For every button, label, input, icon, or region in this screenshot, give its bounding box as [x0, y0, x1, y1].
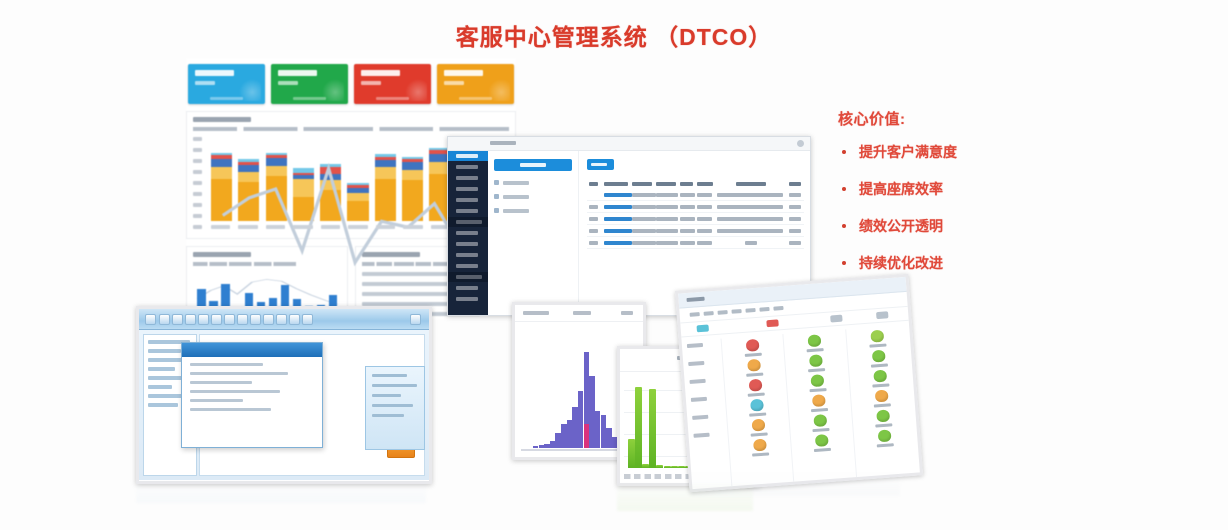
core-value-label: 持续优化改进 [859, 253, 943, 273]
kpi-value [361, 81, 381, 85]
sidebar-item-7[interactable] [448, 228, 488, 238]
refresh-icon[interactable] [224, 314, 235, 325]
agent-label [752, 452, 769, 456]
bullet-icon [842, 261, 846, 265]
agent-label [813, 428, 830, 432]
core-value-item: 提高座席效率 [842, 179, 1068, 199]
agent-status-node[interactable] [871, 369, 889, 387]
table-cell [630, 201, 654, 213]
sidebar-item-label [456, 154, 478, 158]
cell-value [697, 241, 712, 245]
legacy-titlebar [139, 309, 429, 330]
cell-value [680, 241, 695, 245]
bullet-icon [842, 224, 846, 228]
agent-label [874, 403, 891, 407]
table-cell [602, 201, 630, 213]
cell-value [589, 241, 598, 245]
bar-segment [238, 182, 259, 221]
status-dot-icon [753, 439, 767, 452]
bar[interactable] [678, 466, 685, 468]
legend-busy [766, 319, 778, 327]
cell-value [697, 205, 712, 209]
kpi-card-green[interactable] [271, 64, 348, 104]
table-cell [602, 237, 630, 249]
cell-value [680, 205, 695, 209]
sidebar-item-label [456, 297, 478, 301]
table-cell [587, 213, 602, 225]
agent-status-node[interactable] [875, 429, 893, 447]
table-cell [695, 189, 715, 201]
bullet-icon [842, 150, 846, 154]
bullet-icon [842, 187, 846, 191]
table-cell [654, 225, 678, 237]
table-cell [787, 225, 804, 237]
table-cell [715, 213, 787, 225]
sidebar-item-5[interactable] [448, 206, 488, 216]
cell-value[interactable] [604, 193, 632, 197]
agent-label [751, 432, 768, 436]
panel-title [362, 252, 420, 257]
cell-value [717, 229, 783, 233]
kpi-value [278, 81, 298, 85]
core-value-label: 提高座席效率 [859, 179, 943, 199]
table-cell [678, 213, 695, 225]
table-cell [630, 213, 654, 225]
sidebar-item-label [456, 220, 482, 224]
agent-status-node[interactable] [807, 354, 825, 372]
bar-segment [320, 167, 341, 174]
kpi-glyph-icon [488, 79, 510, 101]
stacked-bar[interactable] [211, 153, 232, 221]
y-axis-ticks [193, 137, 209, 221]
table-cell [695, 237, 715, 249]
stacked-bar[interactable] [293, 168, 314, 221]
app-icon [145, 314, 156, 325]
export-icon[interactable] [250, 314, 261, 325]
agent-label [749, 412, 766, 416]
status-column-2 [846, 325, 918, 477]
kpi-title [195, 70, 234, 76]
sidebar-item-label [456, 253, 478, 257]
table-cell [602, 189, 630, 201]
tree-row[interactable] [494, 194, 572, 199]
stacked-bar[interactable] [238, 159, 259, 221]
bar[interactable] [671, 466, 678, 468]
status-column-1 [784, 329, 857, 481]
bar-segment [238, 165, 259, 172]
core-values-list: 提升客户满意度提高座席效率绩效公开透明持续优化改进 [838, 142, 1068, 273]
settings-icon[interactable] [302, 314, 313, 325]
agent-status-grid[interactable] [681, 321, 920, 489]
stacked-bar[interactable] [266, 153, 287, 221]
cell-value [656, 241, 677, 245]
table-cell [715, 201, 787, 213]
expand-icon [494, 180, 499, 185]
table-cell [787, 237, 804, 249]
bar-segment [375, 179, 396, 221]
agent-label [807, 348, 824, 352]
chart-legend [193, 127, 509, 131]
cell-value [717, 217, 783, 221]
bar[interactable] [642, 464, 649, 468]
status-dot-icon [877, 429, 891, 442]
slide-canvas: 客服中心管理系统 （DTCO） [0, 0, 1228, 530]
cell-value [789, 205, 801, 209]
kpi-card-row [186, 58, 516, 104]
sidebar-item-10[interactable] [448, 261, 488, 271]
table-cell [602, 225, 630, 237]
breadcrumb [490, 141, 516, 145]
agent-label [872, 383, 889, 387]
agent-label [811, 408, 828, 412]
table-cell [654, 213, 678, 225]
bar-segment [266, 166, 287, 177]
table-cell [630, 189, 654, 201]
core-value-item: 持续优化改进 [842, 253, 1068, 273]
chart-title [193, 117, 251, 122]
cell-value [717, 193, 783, 197]
agent-status-node[interactable] [868, 330, 886, 348]
cell-value [789, 217, 801, 221]
sidebar-item-3[interactable] [448, 184, 488, 194]
agent-status-window[interactable] [675, 274, 923, 493]
panel-subtitle [362, 262, 453, 266]
legacy-modal-dialog[interactable] [181, 342, 323, 448]
cell-value [697, 217, 712, 221]
cell-value [632, 217, 656, 221]
status-dot-icon [870, 330, 884, 343]
status-dot-icon [750, 399, 764, 412]
sidebar-item-label [456, 231, 478, 235]
sidebar-item-label [456, 264, 478, 268]
search-icon[interactable] [211, 314, 222, 325]
table-cell [602, 213, 630, 225]
bar-segment [402, 170, 423, 181]
sidebar-item-8[interactable] [448, 239, 488, 249]
sidebar-item-label [456, 275, 482, 279]
kpi-value [444, 81, 464, 85]
agent-status-node[interactable] [806, 334, 824, 352]
table-row[interactable] [587, 189, 804, 201]
agent-status-node[interactable] [745, 359, 763, 377]
kpi-value [195, 81, 215, 85]
agent-label [810, 388, 827, 392]
status-dot-icon [752, 419, 766, 432]
status-dot-icon [747, 359, 761, 372]
close-icon[interactable] [410, 314, 421, 325]
core-value-label: 提升客户满意度 [859, 142, 957, 162]
legacy-client-window[interactable] [136, 306, 432, 484]
cell-value [589, 205, 598, 209]
agent-status-node[interactable] [751, 438, 769, 456]
cell-value [745, 241, 756, 245]
panel-title [193, 252, 251, 257]
cell-value [632, 193, 656, 197]
agent-label [875, 423, 892, 427]
agent-status-node[interactable] [747, 379, 765, 397]
window-topbar [448, 137, 810, 151]
chart-label [523, 311, 549, 315]
chart-legend [621, 311, 633, 315]
stacked-bar[interactable] [402, 157, 423, 221]
table-cell [654, 201, 678, 213]
bar-segment [211, 159, 232, 167]
bar-segment [266, 176, 287, 221]
agent-label [745, 353, 762, 357]
status-dot-icon [815, 434, 829, 447]
table-cell [654, 189, 678, 201]
table-cell [787, 213, 804, 225]
table-cell [678, 189, 695, 201]
sidebar-item-12[interactable] [448, 283, 488, 293]
stacked-bar[interactable] [375, 154, 396, 221]
cell-value [717, 205, 783, 209]
status-dot-icon [876, 409, 890, 422]
agent-status-node[interactable] [809, 374, 827, 392]
kpi-glyph-icon [405, 79, 427, 101]
filter-icon[interactable] [237, 314, 248, 325]
sidebar-item-1[interactable] [448, 162, 488, 172]
cell-value [656, 229, 677, 233]
legend-idle [876, 311, 888, 319]
table-row[interactable] [587, 213, 804, 225]
kpi-glyph-icon [239, 79, 261, 101]
bar[interactable] [656, 465, 663, 468]
cell-value [680, 217, 695, 221]
agent-status-node[interactable] [873, 389, 891, 407]
agent-label [814, 448, 831, 452]
status-dot-icon [873, 370, 887, 383]
admin-sidebar[interactable] [448, 151, 488, 316]
agent-label [746, 373, 763, 377]
bar-segment [375, 167, 396, 178]
bar-segment [402, 162, 423, 169]
sidebar-item-label [456, 209, 478, 213]
agent-status-node[interactable] [748, 399, 766, 417]
table-cell [587, 201, 602, 213]
cell-value [697, 229, 712, 233]
cell-value [789, 241, 801, 245]
core-values-panel: 核心价值: 提升客户满意度提高座席效率绩效公开透明持续优化改进 [838, 108, 1068, 290]
agent-status-node[interactable] [813, 434, 831, 452]
new-ticket-button[interactable] [587, 159, 614, 170]
kpi-card-red[interactable] [354, 64, 431, 104]
cell-value [789, 193, 801, 197]
status-dot-icon [809, 354, 823, 367]
cell-value[interactable] [604, 217, 632, 221]
kpi-title [444, 70, 483, 76]
core-values-heading: 核心价值: [838, 108, 1068, 129]
sidebar-item-4[interactable] [448, 195, 488, 205]
histogram-bar-highlight[interactable] [584, 424, 590, 448]
cell-value [632, 229, 656, 233]
table-cell [654, 237, 678, 249]
status-dot-icon [746, 339, 760, 352]
table-cell [695, 201, 715, 213]
agent-status-node[interactable] [810, 394, 828, 412]
expand-icon [494, 194, 499, 199]
bar-segment [402, 180, 423, 221]
kpi-glyph-icon [322, 79, 344, 101]
table-cell [695, 225, 715, 237]
agent-status-node[interactable] [874, 409, 892, 427]
bar-segment [266, 158, 287, 165]
kpi-title [278, 70, 317, 76]
kpi-card-blue[interactable] [188, 64, 265, 104]
status-dot-icon [872, 350, 886, 363]
agent-label [869, 344, 886, 348]
bar-segment [347, 201, 368, 221]
bar-segment [320, 180, 341, 190]
agent-label [877, 443, 894, 447]
help-icon[interactable] [289, 314, 300, 325]
status-dot-icon [749, 379, 763, 392]
avatar[interactable] [797, 140, 804, 147]
kpi-card-orange[interactable] [437, 64, 514, 104]
cell-value [632, 205, 656, 209]
agent-label [808, 368, 825, 372]
agent-label [748, 393, 765, 397]
cell-value[interactable] [604, 241, 632, 245]
cell-value [589, 217, 598, 221]
chart-title [573, 311, 591, 315]
agent-status-node[interactable] [750, 418, 768, 436]
sidebar-item-label [456, 242, 478, 246]
sidebar-item-11[interactable] [448, 272, 488, 282]
table-cell [678, 225, 695, 237]
table-cell [787, 189, 804, 201]
table-row[interactable] [587, 225, 804, 237]
sidebar-item-9[interactable] [448, 250, 488, 260]
status-dot-icon [814, 414, 828, 427]
ticket-table[interactable] [587, 178, 804, 249]
table-cell [787, 201, 804, 213]
status-dot-icon [811, 374, 825, 387]
table-header [587, 178, 804, 189]
page-title: 客服中心管理系统 （DTCO） [0, 18, 1228, 52]
bar-segment [211, 179, 232, 221]
sidebar-item-13[interactable] [448, 294, 488, 304]
core-value-label: 绩效公开透明 [859, 216, 943, 236]
dialog-titlebar [182, 343, 322, 357]
new-icon[interactable] [159, 314, 170, 325]
bar[interactable] [649, 389, 656, 468]
table-cell [678, 237, 695, 249]
status-dot-icon [812, 394, 826, 407]
table-cell [587, 225, 602, 237]
table-cell [715, 225, 787, 237]
cell-value [656, 193, 677, 197]
category-tree-panel[interactable] [488, 151, 579, 316]
agent-label [871, 363, 888, 367]
cell-value[interactable] [604, 205, 632, 209]
status-dot-icon [808, 334, 822, 347]
table-cell [715, 189, 787, 201]
agent-status-node[interactable] [744, 339, 762, 357]
bar-segment [347, 193, 368, 201]
status-column-0 [721, 334, 794, 486]
open-icon[interactable] [172, 314, 183, 325]
print-icon[interactable] [198, 314, 209, 325]
sidebar-item-2[interactable] [448, 173, 488, 183]
chart-icon[interactable] [263, 314, 274, 325]
cell-value [656, 205, 677, 209]
core-value-item: 绩效公开透明 [842, 216, 1068, 236]
agent-status-node[interactable] [870, 349, 888, 367]
save-icon[interactable] [185, 314, 196, 325]
table-row[interactable] [587, 237, 804, 249]
table-cell [715, 237, 787, 249]
bar-segment [211, 167, 232, 178]
table-cell [630, 225, 654, 237]
cell-value [680, 193, 695, 197]
kpi-title [361, 70, 400, 76]
agent-status-node[interactable] [812, 414, 830, 432]
sidebar-item-label [456, 176, 478, 180]
cell-value [589, 229, 598, 233]
sidebar-item-6[interactable] [448, 217, 488, 227]
bar[interactable] [635, 387, 642, 468]
table-cell [587, 237, 602, 249]
sidebar-item-label [456, 286, 478, 290]
panel-subtitle [193, 262, 296, 266]
sidebar-item-0[interactable] [448, 151, 488, 161]
bar-segment [293, 197, 314, 221]
stacked-bar[interactable] [347, 183, 368, 221]
cell-value [789, 229, 801, 233]
cell-value[interactable] [604, 229, 632, 233]
legend-total [830, 315, 842, 323]
bar-segment [238, 172, 259, 182]
histogram-header [515, 305, 643, 322]
cell-value [697, 193, 712, 197]
expand-icon [494, 208, 499, 213]
status-dot-icon [875, 390, 889, 403]
bar-segment [375, 160, 396, 167]
table-row[interactable] [587, 201, 804, 213]
table-cell [587, 189, 602, 201]
sidebar-item-label [456, 165, 478, 169]
user-icon[interactable] [276, 314, 287, 325]
cell-value [656, 217, 677, 221]
sidebar-item-label [456, 198, 478, 202]
cell-value [632, 241, 656, 245]
table-body [587, 189, 804, 249]
table-cell [630, 237, 654, 249]
legend-talking [697, 324, 709, 332]
table-cell [678, 201, 695, 213]
tree-tab-all[interactable] [494, 159, 572, 171]
core-value-item: 提升客户满意度 [842, 142, 1068, 162]
bar-segment [293, 179, 314, 197]
stacked-bar[interactable] [320, 164, 341, 221]
legacy-side-widget[interactable] [365, 366, 425, 450]
table-cell [695, 213, 715, 225]
tree-row[interactable] [494, 208, 572, 213]
bar[interactable] [664, 466, 671, 468]
bar-segment [320, 190, 341, 221]
bar[interactable] [628, 439, 635, 468]
sidebar-item-label [456, 187, 478, 191]
tree-row[interactable] [494, 180, 572, 185]
cell-value [680, 229, 695, 233]
